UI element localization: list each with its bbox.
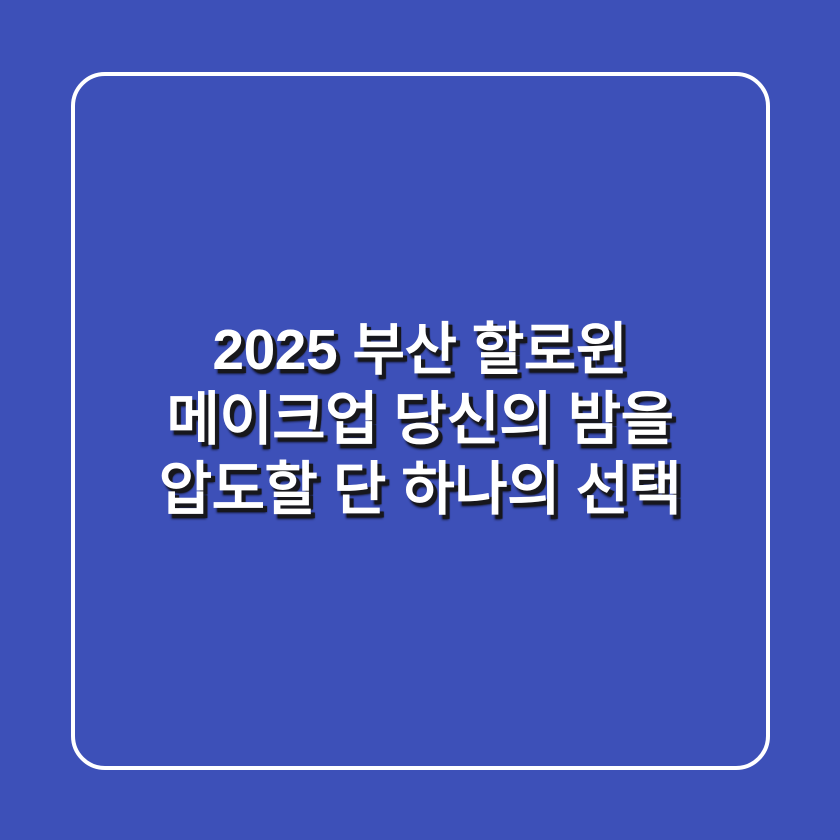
headline-line-2: 메이크업 당신의 밤을 — [56, 385, 784, 455]
headline-text-block: 2025 부산 할로윈 메이크업 당신의 밤을 압도할 단 하나의 선택 — [0, 315, 840, 525]
headline-line-1: 2025 부산 할로윈 — [56, 315, 784, 385]
thumbnail-card: 2025 부산 할로윈 메이크업 당신의 밤을 압도할 단 하나의 선택 — [0, 0, 840, 840]
headline-line-3: 압도할 단 하나의 선택 — [56, 455, 784, 525]
